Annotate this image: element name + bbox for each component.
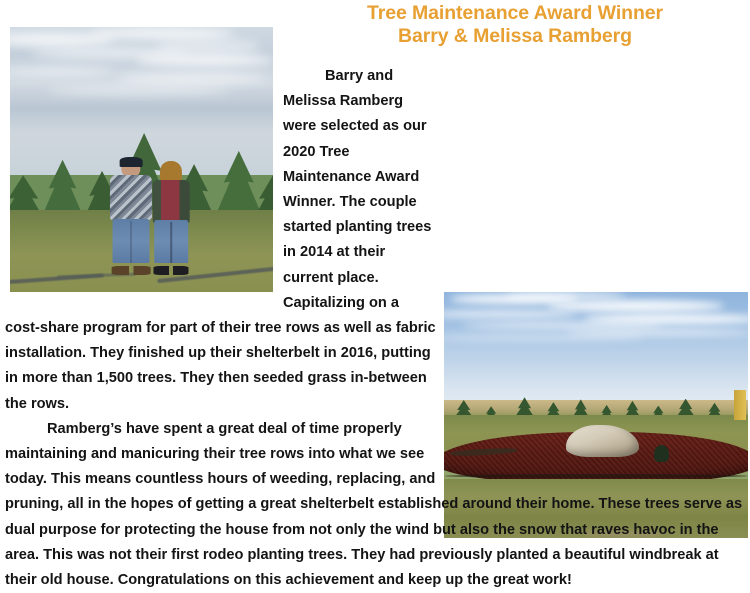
cloud: [89, 28, 234, 38]
text-wrap-spacer-right: [436, 64, 748, 484]
title-line-1: Tree Maintenance Award Winner: [282, 2, 748, 25]
text-wrap-spacer-left: [5, 64, 283, 296]
cloud: [155, 39, 260, 54]
page-title: Tree Maintenance Award Winner Barry & Me…: [282, 2, 748, 48]
title-line-2: Barry & Melissa Ramberg: [282, 25, 748, 48]
newsletter-page: Tree Maintenance Award Winner Barry & Me…: [0, 0, 750, 538]
article-body: Barry and Melissa Ramberg were selected …: [0, 64, 750, 538]
